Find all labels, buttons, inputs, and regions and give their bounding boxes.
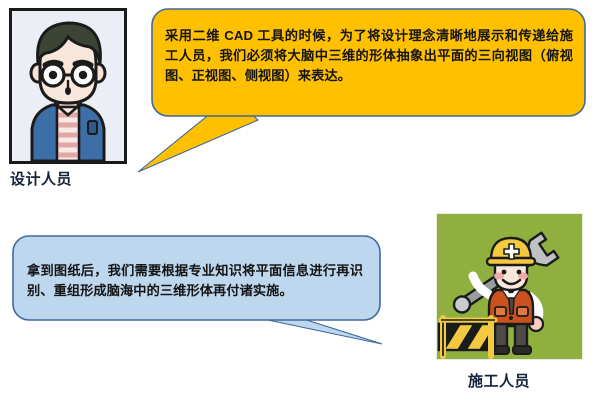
designer-avatar-icon	[12, 11, 124, 161]
diagram-canvas: 采用二维 CAD 工具的时候，为了将设计理念清晰地展示和传递给施工人员，我们必须…	[0, 0, 600, 404]
worker-bubble-tail	[250, 302, 382, 344]
worker-bubble-text: 拿到图纸后，我们需要根据专业知识将平面信息进行再识别、重组形成脑海中的三维形体再…	[27, 261, 363, 301]
designer-avatar-card	[9, 8, 127, 164]
designer-bubble-text: 采用二维 CAD 工具的时候，为了将设计理念清晰地展示和传递给施工人员，我们必须…	[165, 26, 573, 86]
construction-worker-icon	[437, 214, 582, 359]
worker-label: 施工人员	[468, 370, 530, 391]
worker-avatar-card	[436, 213, 583, 360]
designer-bubble-tail	[138, 96, 258, 172]
designer-label: 设计人员	[10, 168, 72, 189]
